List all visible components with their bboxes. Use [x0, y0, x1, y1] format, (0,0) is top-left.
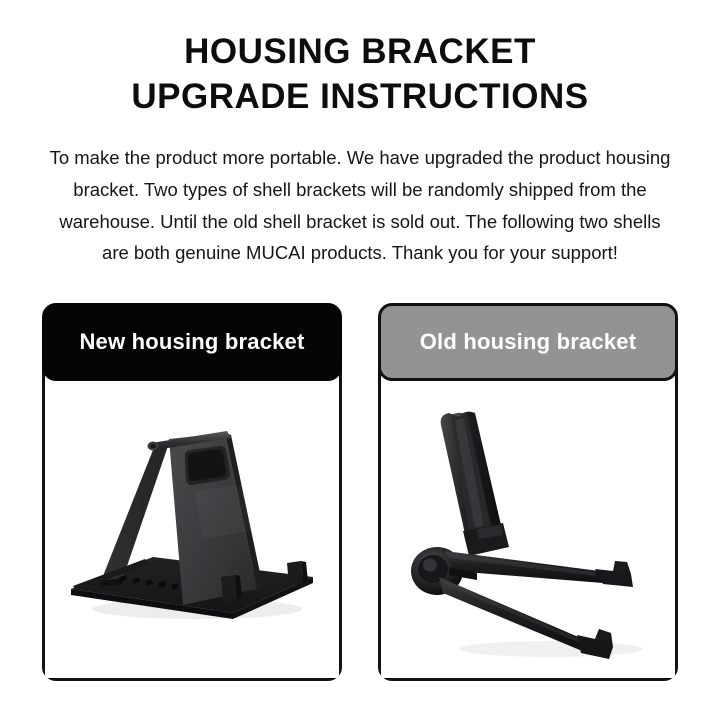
upper-flap: [441, 412, 502, 543]
description-line-4: are both genuine MUCAI products. Thank y…: [28, 237, 692, 269]
product-image-new-bracket: [45, 381, 339, 678]
comparison-cards: New housing bracket: [0, 300, 720, 720]
card-header-old: Old housing bracket: [378, 303, 678, 381]
card-new-housing-bracket: New housing bracket: [42, 333, 342, 681]
description-paragraph: To make the product more portable. We ha…: [28, 142, 692, 269]
card-header-new: New housing bracket: [42, 303, 342, 381]
title-line-1: HOUSING BRACKET: [0, 30, 720, 75]
card-header-label-old: Old housing bracket: [420, 329, 637, 355]
foldable-a-frame-phone-stand-illustration: [45, 381, 339, 678]
description-line-3: warehouse. Until the old shell bracket i…: [28, 206, 692, 238]
upper-arm: [445, 551, 633, 587]
folding-tripod-tablet-stand-illustration: [381, 381, 675, 678]
instruction-page: HOUSING BRACKET UPGRADE INSTRUCTIONS To …: [0, 0, 720, 720]
description-line-2: bracket. Two types of shell brackets wil…: [28, 174, 692, 206]
card-old-housing-bracket: Old housing bracket: [378, 333, 678, 681]
title-line-2: UPGRADE INSTRUCTIONS: [0, 75, 720, 120]
description-line-1: To make the product more portable. We ha…: [28, 142, 692, 174]
card-header-label-new: New housing bracket: [79, 329, 304, 355]
product-image-old-bracket: [381, 381, 675, 678]
page-title: HOUSING BRACKET UPGRADE INSTRUCTIONS: [0, 30, 720, 120]
